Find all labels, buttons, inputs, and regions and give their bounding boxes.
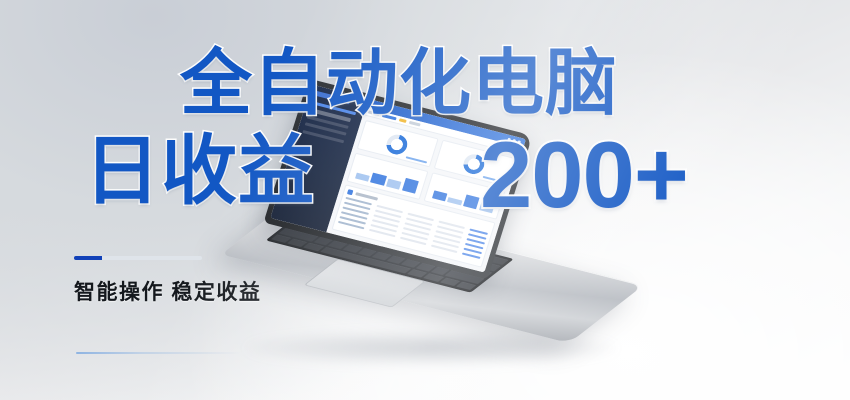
poster-canvas: 全自动化电脑 日收益 200+ 智能操作 稳定收益 bbox=[0, 0, 850, 400]
headline-line-2: 日收益 bbox=[84, 134, 315, 210]
table-row[interactable] bbox=[340, 211, 483, 249]
list-icon bbox=[347, 189, 354, 195]
card-footer-label bbox=[405, 156, 427, 163]
headline-line-1: 全自动化电脑 bbox=[180, 48, 618, 120]
decorative-baseline bbox=[76, 352, 242, 354]
subtitle: 智能操作 稳定收益 bbox=[74, 276, 261, 306]
accent-bar bbox=[74, 256, 202, 260]
headline-number: 200+ bbox=[480, 128, 688, 222]
donut-chart bbox=[384, 132, 410, 156]
